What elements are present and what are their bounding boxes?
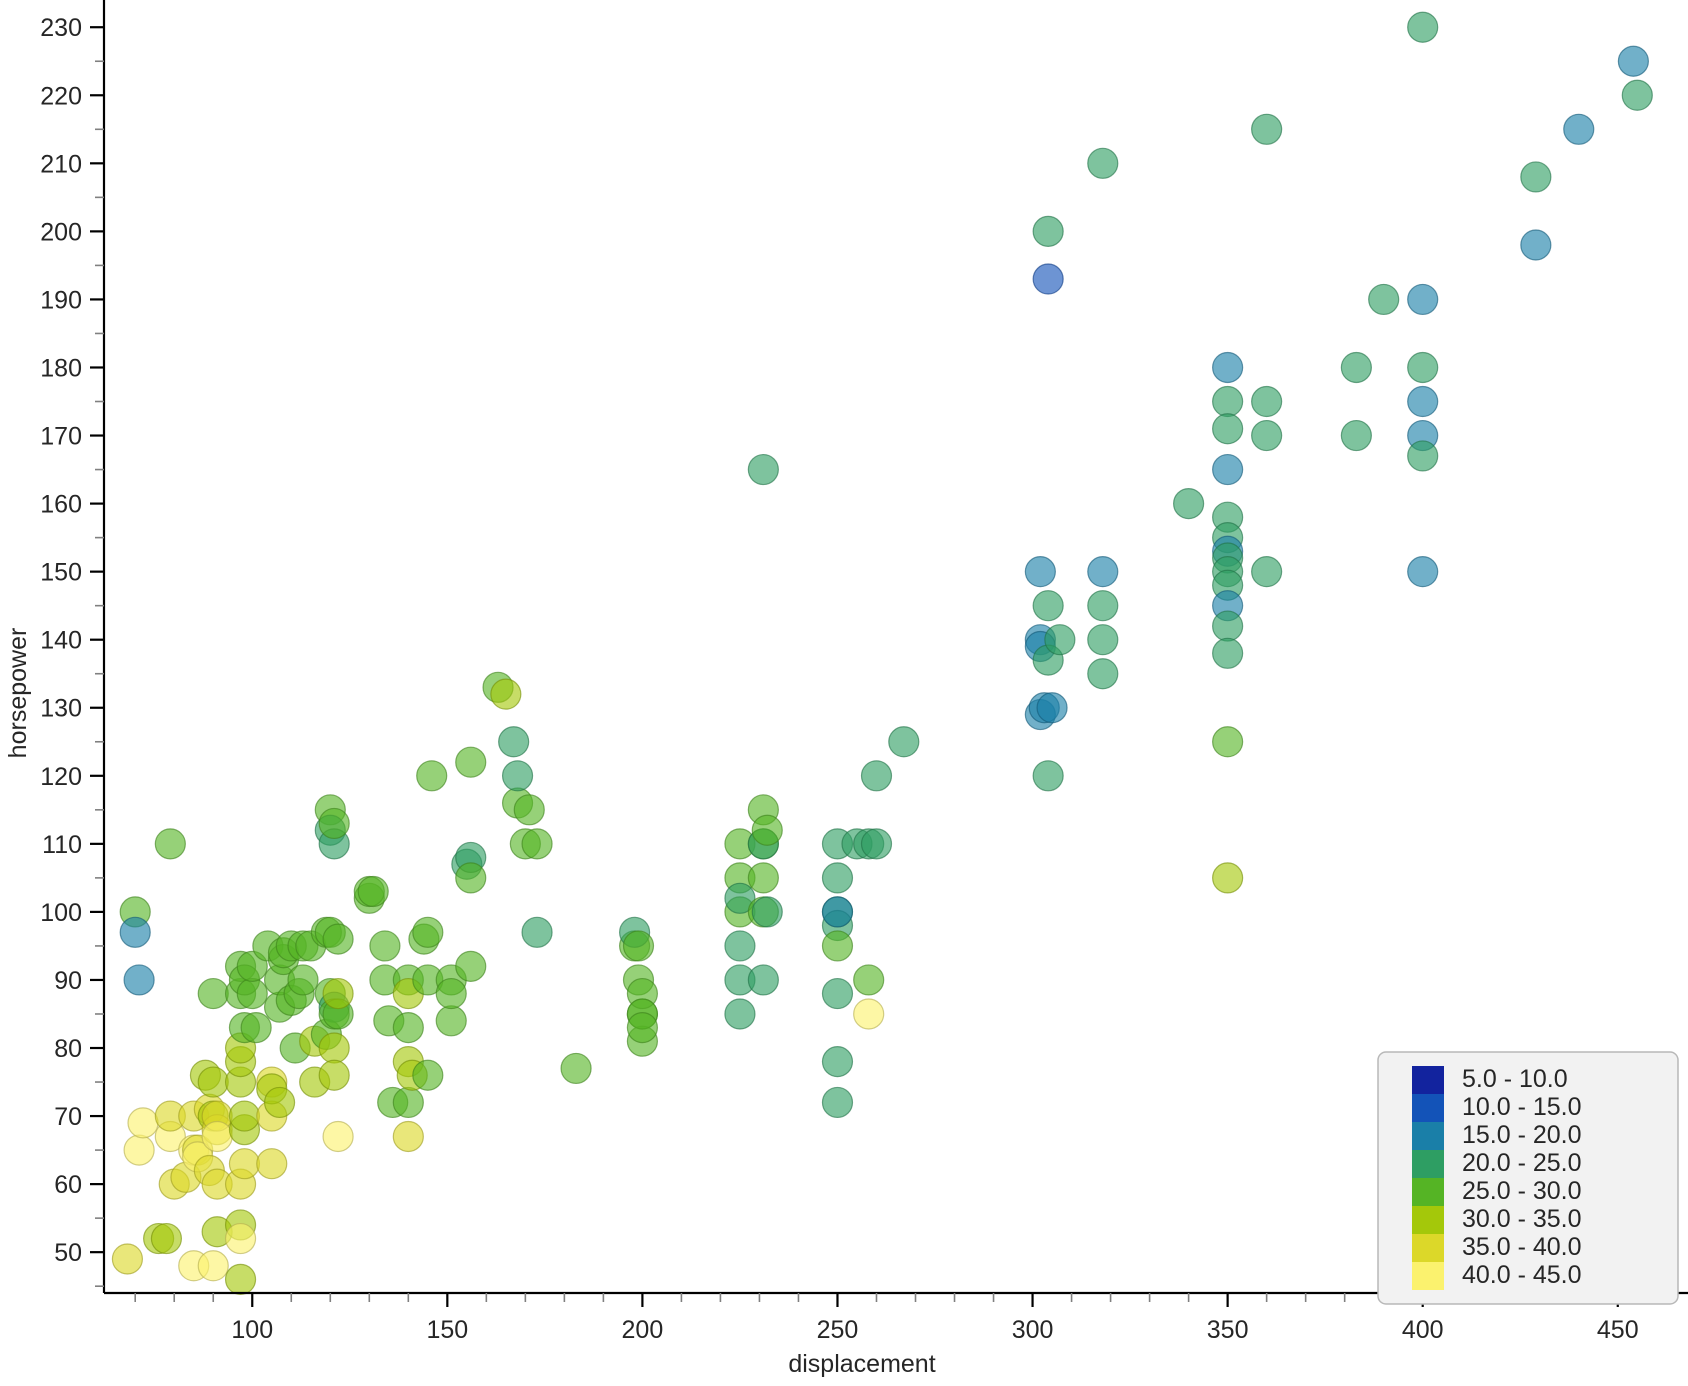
data-point	[393, 1013, 423, 1043]
x-axis-title: displacement	[788, 1350, 935, 1378]
legend-swatch[interactable]	[1412, 1094, 1444, 1122]
data-point	[229, 1101, 259, 1131]
data-point	[1622, 80, 1652, 110]
legend-swatch[interactable]	[1412, 1122, 1444, 1150]
data-point	[822, 931, 852, 961]
legend-swatch[interactable]	[1412, 1262, 1444, 1290]
data-point	[1213, 352, 1243, 382]
scatter-plot-figure: 5060708090100110120130140150160170180190…	[0, 0, 1688, 1386]
x-tick-label: 350	[1207, 1316, 1249, 1344]
data-point	[1033, 264, 1063, 294]
data-point	[1213, 863, 1243, 893]
legend-swatch[interactable]	[1412, 1178, 1444, 1206]
data-point	[323, 979, 353, 1009]
y-tick-label: 120	[40, 763, 82, 791]
y-tick-label: 220	[40, 82, 82, 110]
data-point	[112, 1244, 142, 1274]
y-tick-label: 150	[40, 559, 82, 587]
data-point	[1408, 441, 1438, 471]
x-tick-label: 200	[622, 1316, 664, 1344]
data-point	[522, 829, 552, 859]
data-point	[522, 917, 552, 947]
y-tick-label: 140	[40, 627, 82, 655]
data-point	[370, 931, 400, 961]
data-point	[822, 1047, 852, 1077]
data-point	[1025, 557, 1055, 587]
data-point	[1252, 421, 1282, 451]
legend-label: 25.0 - 30.0	[1462, 1177, 1582, 1205]
legend-label: 40.0 - 45.0	[1462, 1261, 1582, 1289]
data-point	[1369, 284, 1399, 314]
legend-swatch[interactable]	[1412, 1150, 1444, 1178]
data-point	[748, 965, 778, 995]
data-point	[413, 1060, 443, 1090]
y-axis-title: horsepower	[4, 628, 32, 759]
data-point	[456, 747, 486, 777]
data-point	[561, 1053, 591, 1083]
y-tick-label: 170	[40, 423, 82, 451]
y-tick-label: 210	[40, 150, 82, 178]
x-tick-label: 250	[817, 1316, 859, 1344]
data-point	[393, 1121, 423, 1151]
data-point	[456, 863, 486, 893]
data-point	[1033, 216, 1063, 246]
y-tick-label: 180	[40, 354, 82, 382]
data-point	[822, 897, 852, 927]
y-tick-label: 160	[40, 491, 82, 519]
data-point	[752, 815, 782, 845]
y-tick-label: 90	[54, 967, 82, 995]
data-point	[413, 917, 443, 947]
data-point	[1408, 352, 1438, 382]
data-point	[1521, 162, 1551, 192]
data-point	[1213, 611, 1243, 641]
y-tick-label: 50	[54, 1239, 82, 1267]
legend-label: 15.0 - 20.0	[1462, 1121, 1582, 1149]
y-tick-label: 130	[40, 695, 82, 723]
legend-label: 35.0 - 40.0	[1462, 1233, 1582, 1261]
data-point	[1088, 591, 1118, 621]
data-point	[748, 863, 778, 893]
x-tick-label: 100	[231, 1316, 273, 1344]
data-point	[1252, 387, 1282, 417]
data-point	[748, 455, 778, 485]
x-tick-label: 150	[426, 1316, 468, 1344]
data-point	[1088, 557, 1118, 587]
data-point	[854, 999, 884, 1029]
data-point	[1213, 638, 1243, 668]
data-point	[226, 1224, 256, 1254]
data-point	[124, 1135, 154, 1165]
data-point	[1213, 387, 1243, 417]
data-point	[1408, 12, 1438, 42]
y-tick-label: 200	[40, 218, 82, 246]
data-point	[393, 1087, 423, 1117]
data-point	[288, 965, 318, 995]
data-point	[1037, 693, 1067, 723]
legend-swatch[interactable]	[1412, 1066, 1444, 1094]
data-point	[1088, 148, 1118, 178]
y-tick-label: 70	[54, 1103, 82, 1131]
data-point	[1213, 414, 1243, 444]
data-point	[229, 1149, 259, 1179]
x-tick-label: 300	[1012, 1316, 1054, 1344]
data-point	[1252, 114, 1282, 144]
data-point	[514, 795, 544, 825]
data-point	[241, 1013, 271, 1043]
legend-swatch[interactable]	[1412, 1234, 1444, 1262]
data-point	[1174, 489, 1204, 519]
data-point	[124, 965, 154, 995]
data-point	[1408, 387, 1438, 417]
data-point	[128, 1108, 158, 1138]
data-point	[265, 1087, 295, 1117]
legend-label: 30.0 - 35.0	[1462, 1205, 1582, 1233]
data-point	[202, 1121, 232, 1151]
data-point	[323, 924, 353, 954]
data-point	[854, 965, 884, 995]
y-tick-label: 190	[40, 286, 82, 314]
data-point	[1033, 591, 1063, 621]
data-point	[436, 1006, 466, 1036]
data-point	[319, 1060, 349, 1090]
data-point	[319, 808, 349, 838]
data-point	[436, 979, 466, 1009]
data-point	[822, 863, 852, 893]
data-point	[752, 897, 782, 927]
data-point	[1408, 284, 1438, 314]
legend-swatch[interactable]	[1412, 1206, 1444, 1234]
legend-label: 10.0 - 15.0	[1462, 1093, 1582, 1121]
data-point	[725, 999, 755, 1029]
data-point	[1088, 659, 1118, 689]
data-point	[503, 761, 533, 791]
y-tick-label: 100	[40, 899, 82, 927]
data-point	[861, 829, 891, 859]
data-point	[237, 979, 267, 1009]
data-point	[822, 1087, 852, 1117]
legend-label: 20.0 - 25.0	[1462, 1149, 1582, 1177]
data-point	[1521, 230, 1551, 260]
data-point	[1213, 727, 1243, 757]
data-point	[1341, 352, 1371, 382]
data-point	[257, 1149, 287, 1179]
data-point	[151, 1224, 181, 1254]
legend-label: 5.0 - 10.0	[1462, 1065, 1568, 1093]
data-point	[1618, 46, 1648, 76]
x-tick-label: 400	[1402, 1316, 1444, 1344]
y-tick-label: 110	[42, 831, 82, 859]
data-point	[1564, 114, 1594, 144]
data-point	[499, 727, 529, 757]
data-point	[226, 1264, 256, 1294]
data-point	[323, 1121, 353, 1151]
plot-canvas: 5060708090100110120130140150160170180190…	[0, 0, 1688, 1386]
data-point	[198, 1067, 228, 1097]
x-tick-label: 450	[1597, 1316, 1639, 1344]
data-point	[861, 761, 891, 791]
data-point	[1252, 557, 1282, 587]
data-point	[198, 979, 228, 1009]
data-point	[417, 761, 447, 791]
data-point	[1213, 455, 1243, 485]
data-point	[1045, 625, 1075, 655]
data-point	[624, 931, 654, 961]
data-point	[491, 679, 521, 709]
data-point	[822, 979, 852, 1009]
y-tick-label: 80	[54, 1035, 82, 1063]
data-point	[1033, 761, 1063, 791]
data-point	[1088, 625, 1118, 655]
data-point	[198, 1251, 228, 1281]
data-point	[456, 951, 486, 981]
data-point	[120, 917, 150, 947]
data-point	[627, 1013, 657, 1043]
data-point	[889, 727, 919, 757]
y-tick-label: 230	[40, 14, 82, 42]
data-point	[319, 1033, 349, 1063]
data-point	[1341, 421, 1371, 451]
y-tick-label: 60	[54, 1171, 82, 1199]
legend[interactable]: 5.0 - 10.010.0 - 15.015.0 - 20.020.0 - 2…	[1378, 1052, 1678, 1304]
data-point	[358, 876, 388, 906]
data-point	[1408, 557, 1438, 587]
data-point	[725, 931, 755, 961]
data-point	[155, 829, 185, 859]
